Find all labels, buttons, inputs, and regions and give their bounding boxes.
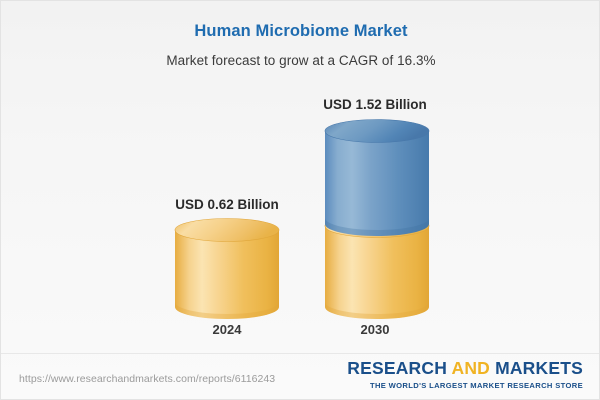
footer-divider	[1, 353, 600, 354]
category-label-2030: 2030	[265, 322, 485, 337]
chart-title: Human Microbiome Market	[1, 22, 600, 41]
logo-word-and: AND	[451, 358, 490, 378]
chart-subtitle: Market forecast to grow at a CAGR of 16.…	[1, 53, 600, 68]
logo-wordmark: RESEARCH AND MARKETS	[347, 360, 583, 378]
logo-tagline: THE WORLD'S LARGEST MARKET RESEARCH STOR…	[347, 382, 583, 390]
logo-word-markets: MARKETS	[495, 358, 583, 378]
report-url[interactable]: https://www.researchandmarkets.com/repor…	[19, 373, 275, 385]
plot-area: USD 0.62 Billion	[1, 79, 600, 349]
research-and-markets-logo[interactable]: RESEARCH AND MARKETS THE WORLD'S LARGEST…	[347, 360, 583, 389]
bar-group-2030: USD 1.52 Billion	[265, 79, 485, 349]
bar-cylinder-2030[interactable]	[322, 118, 432, 319]
logo-word-research: RESEARCH	[347, 358, 447, 378]
chart-canvas: Human Microbiome Market Market forecast …	[0, 0, 600, 400]
value-label-2030: USD 1.52 Billion	[265, 97, 485, 112]
